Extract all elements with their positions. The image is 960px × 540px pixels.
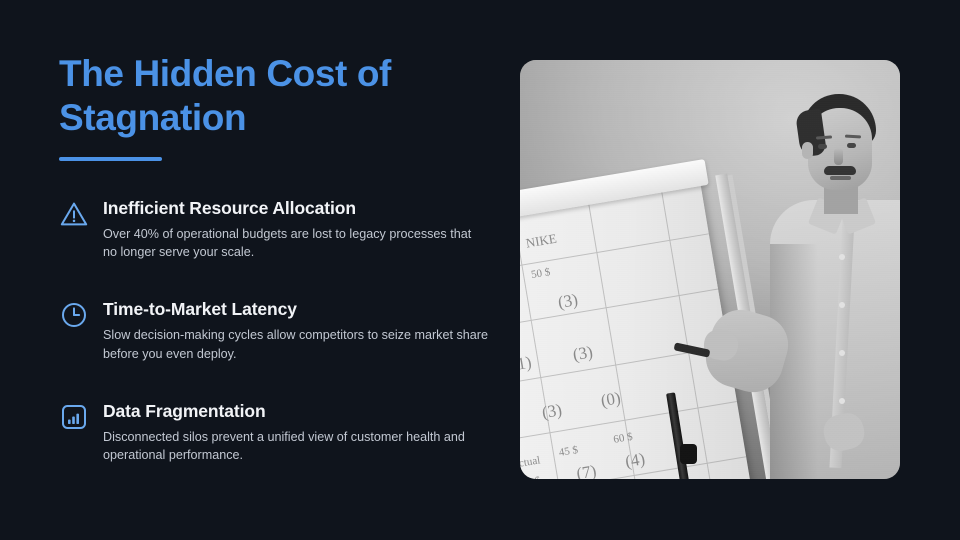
presenter-nose <box>834 148 843 165</box>
list-item: Data Fragmentation Disconnected silos pr… <box>59 401 501 464</box>
presenter-mouth <box>830 176 851 180</box>
list-item-heading: Time-to-Market Latency <box>103 299 501 321</box>
list-item-heading: Data Fragmentation <box>103 401 501 423</box>
left-column: The Hidden Cost of Stagnation <box>59 52 499 161</box>
presenter-ear <box>802 142 813 159</box>
bar-chart-icon <box>59 402 89 432</box>
presenter-figure <box>752 94 900 479</box>
slide-root: The Hidden Cost of Stagnation Inefficien… <box>0 0 960 540</box>
page-title: The Hidden Cost of Stagnation <box>59 52 499 141</box>
list-item-text: Slow decision-making cycles allow compet… <box>103 326 488 363</box>
list-item-text: Over 40% of operational budgets are lost… <box>103 225 488 262</box>
presenter-eye-right <box>847 143 856 148</box>
list-item-body: Time-to-Market Latency Slow decision-mak… <box>103 299 501 362</box>
photo-illustration: smth NIKE 1 $ 50 $ (4) (3) (1) (3) (3) (… <box>520 60 900 479</box>
list-item: Inefficient Resource Allocation Over 40%… <box>59 198 501 261</box>
bullet-list: Inefficient Resource Allocation Over 40%… <box>59 198 501 464</box>
list-item-heading: Inefficient Resource Allocation <box>103 198 501 220</box>
easel-knob <box>680 444 697 464</box>
presenter-mustache <box>824 166 856 175</box>
presenter-eye-left <box>818 144 827 149</box>
presenter-photo: smth NIKE 1 $ 50 $ (4) (3) (1) (3) (3) (… <box>520 60 900 479</box>
title-underline-rule <box>59 157 162 161</box>
list-item: Time-to-Market Latency Slow decision-mak… <box>59 299 501 362</box>
warning-triangle-icon <box>59 199 89 229</box>
list-item-text: Disconnected silos prevent a unified vie… <box>103 428 488 465</box>
clock-icon <box>59 300 89 330</box>
list-item-body: Inefficient Resource Allocation Over 40%… <box>103 198 501 261</box>
list-item-body: Data Fragmentation Disconnected silos pr… <box>103 401 501 464</box>
